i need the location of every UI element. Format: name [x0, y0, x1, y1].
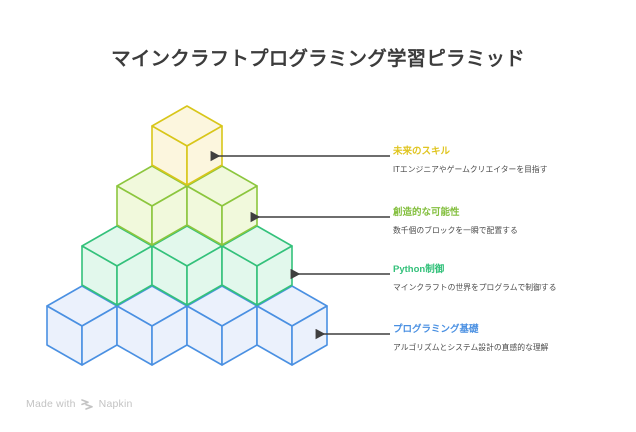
napkin-chevrons-icon	[81, 399, 94, 410]
napkin-watermark: Made with Napkin	[26, 398, 133, 410]
callout-python-control: Python制御 マインクラフトの世界をプログラムで制御する	[393, 264, 593, 293]
watermark-made-with-label: Made with	[26, 398, 76, 410]
callout-creative-potential: 創造的な可能性 数千個のブロックを一瞬で配置する	[393, 207, 593, 236]
callout-title: 未来のスキル	[393, 146, 593, 158]
callout-title: Python制御	[393, 264, 593, 276]
callout-description: 数千個のブロックを一瞬で配置する	[393, 225, 588, 236]
callout-title: 創造的な可能性	[393, 207, 593, 219]
callout-title: プログラミング基礎	[393, 324, 593, 336]
callout-description: ITエンジニアやゲームクリエイターを目指す	[393, 164, 588, 175]
callout-future-skills: 未来のスキル ITエンジニアやゲームクリエイターを目指す	[393, 146, 593, 175]
callout-programming-basics: プログラミング基礎 アルゴリズムとシステム設計の直感的な理解	[393, 324, 593, 353]
watermark-brand-label: Napkin	[99, 398, 133, 410]
callout-description: マインクラフトの世界をプログラムで制御する	[393, 282, 588, 293]
callout-description: アルゴリズムとシステム設計の直感的な理解	[393, 342, 588, 353]
